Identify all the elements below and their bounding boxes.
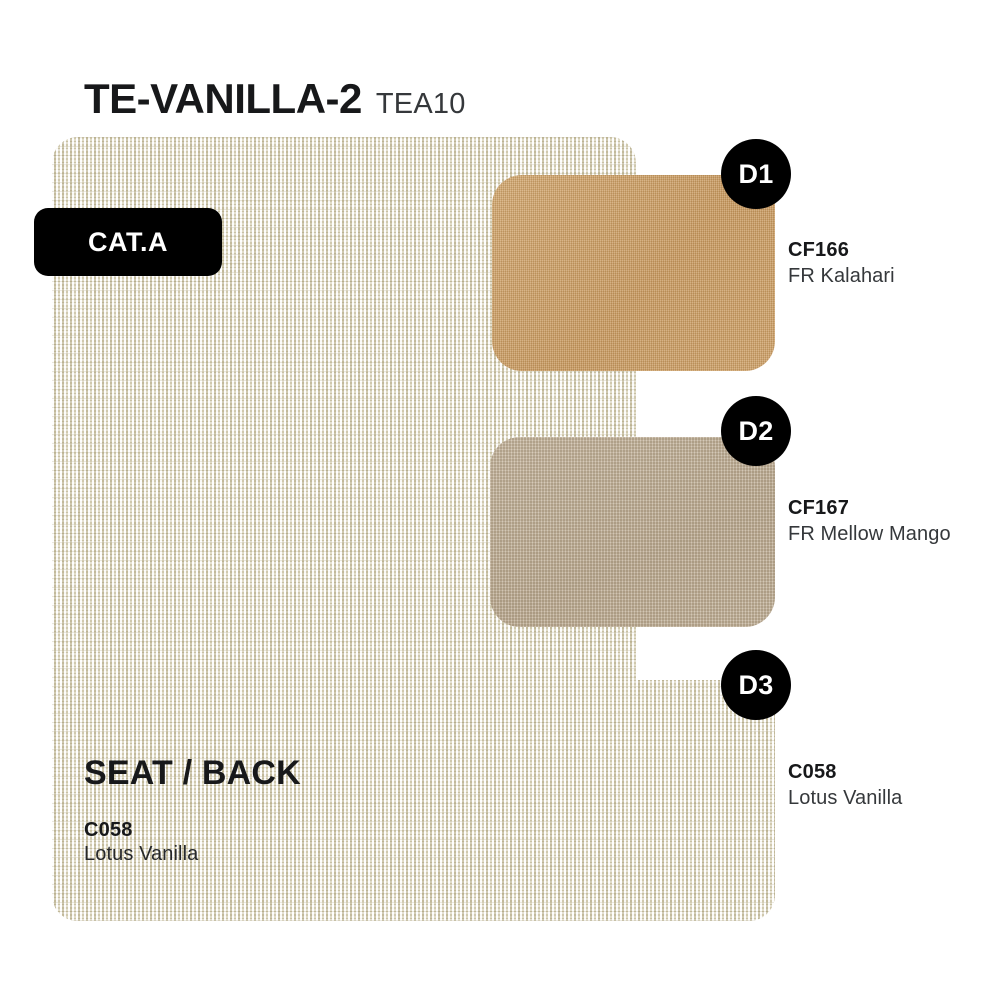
fabric-swatch-card: TE-VANILLA-2 TEA10 CAT.A D1 CF166 FR Kal… [0, 0, 1000, 1000]
badge-d3-label: D3 [738, 670, 773, 701]
category-badge: CAT.A [34, 208, 222, 276]
caption-d2-code: CF167 [788, 496, 951, 522]
caption-d1-name: FR Kalahari [788, 264, 895, 290]
badge-d2-label: D2 [738, 416, 773, 447]
seat-back-label-block: SEAT / BACK C058 Lotus Vanilla [84, 755, 301, 866]
badge-d1: D1 [721, 139, 791, 209]
seat-back-name: Lotus Vanilla [84, 842, 301, 866]
page-title-code: TEA10 [376, 90, 466, 119]
page-title-main: TE-VANILLA-2 [84, 78, 362, 120]
caption-d3-name: Lotus Vanilla [788, 786, 902, 812]
badge-d2: D2 [721, 396, 791, 466]
caption-d2: CF167 FR Mellow Mango [788, 496, 951, 547]
seat-back-heading: SEAT / BACK [84, 755, 301, 792]
seat-back-code: C058 [84, 818, 301, 842]
caption-d1-code: CF166 [788, 238, 895, 264]
page-title: TE-VANILLA-2 TEA10 [84, 78, 466, 120]
caption-d1: CF166 FR Kalahari [788, 238, 895, 289]
swatch-d1[interactable] [492, 175, 775, 371]
badge-d1-label: D1 [738, 159, 773, 190]
caption-d3: C058 Lotus Vanilla [788, 760, 902, 811]
caption-d3-code: C058 [788, 760, 902, 786]
category-badge-label: CAT.A [88, 227, 168, 258]
caption-d2-name: FR Mellow Mango [788, 522, 951, 548]
swatch-d2[interactable] [490, 437, 775, 627]
badge-d3: D3 [721, 650, 791, 720]
